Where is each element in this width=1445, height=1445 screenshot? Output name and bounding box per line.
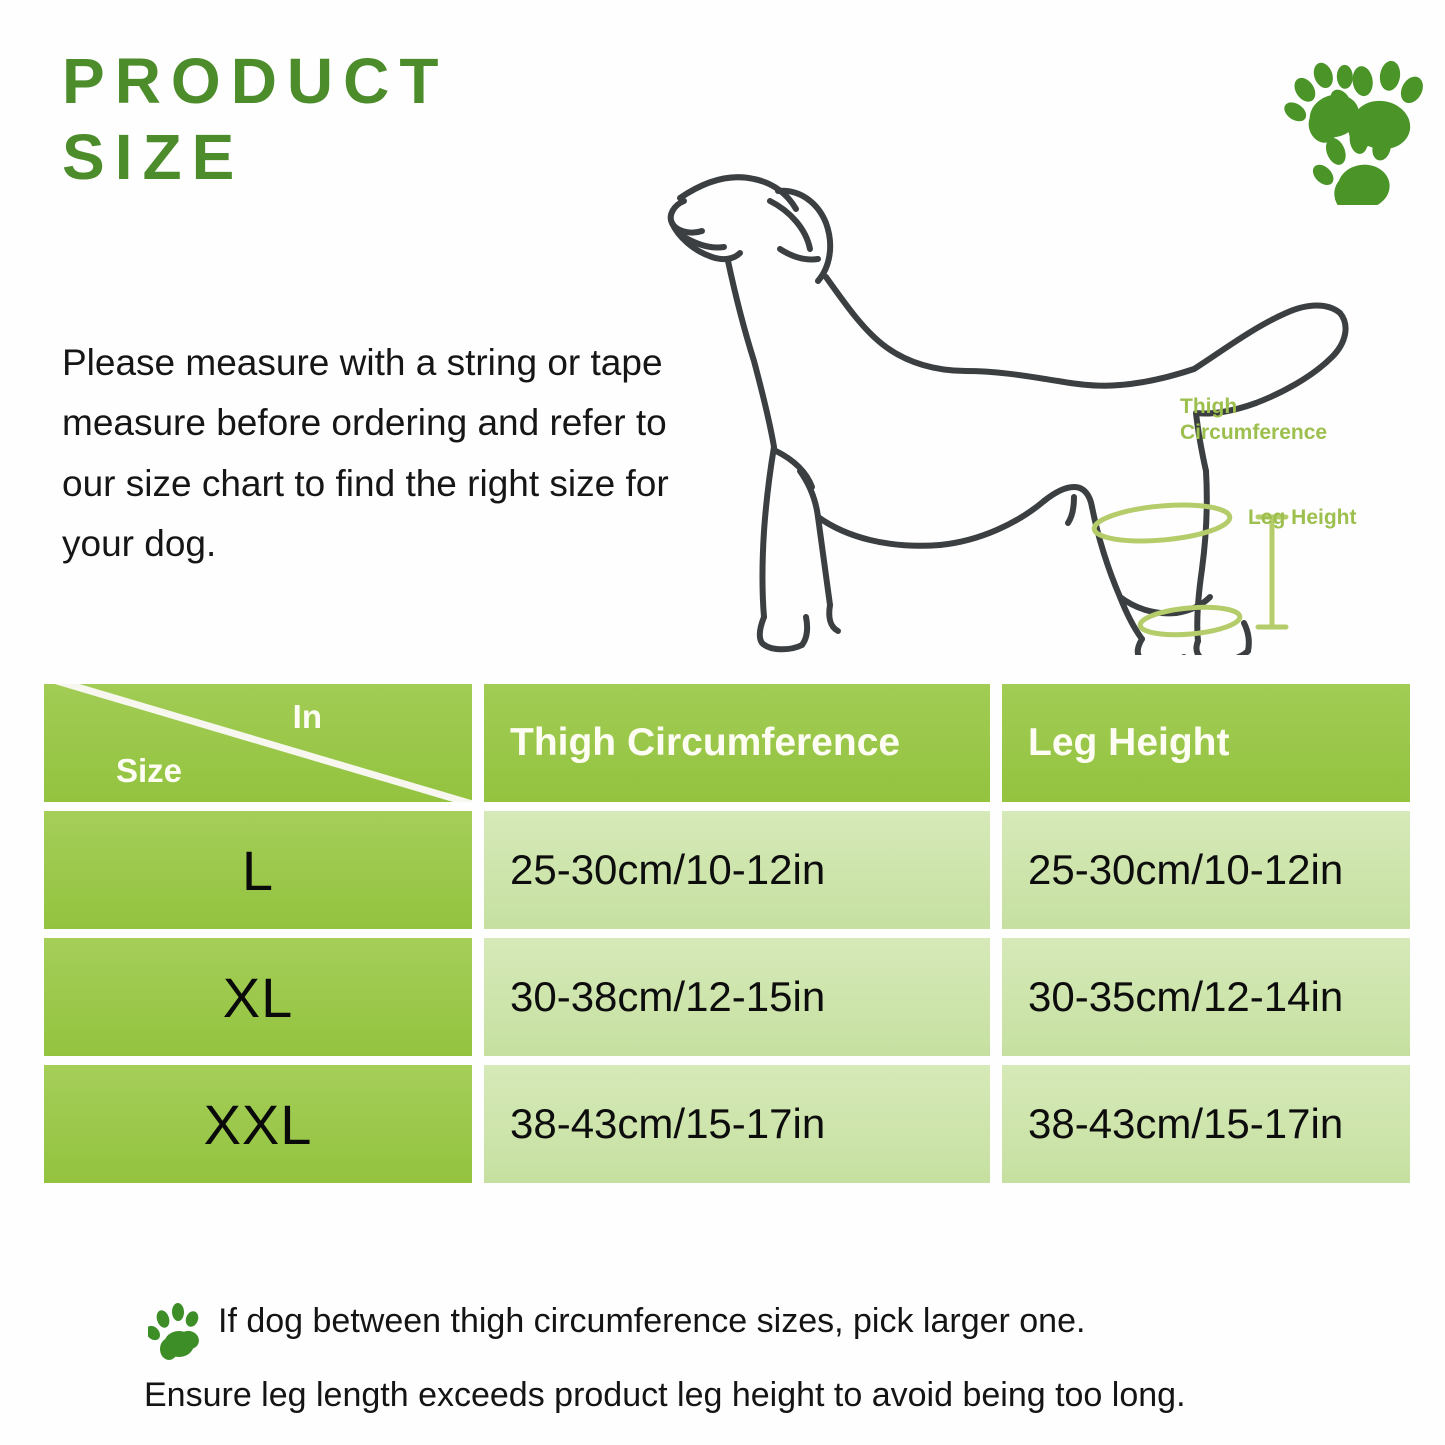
- table-row: XL 30-38cm/12-15in 30-35cm/12-14in: [44, 938, 1406, 1056]
- thigh-measuring-band-icon: [1093, 500, 1231, 546]
- leg-measuring-band-icon: [1139, 604, 1241, 639]
- table-corner-cell: In Size: [44, 684, 472, 802]
- table-row: L 25-30cm/10-12in 25-30cm/10-12in: [44, 811, 1406, 929]
- leg-height-value: 30-35cm/12-14in: [1002, 938, 1410, 1056]
- thigh-circumference-value: 25-30cm/10-12in: [484, 811, 990, 929]
- note-text-2: Ensure leg length exceeds product leg he…: [144, 1374, 1378, 1417]
- leg-height-value: 38-43cm/15-17in: [1002, 1065, 1410, 1183]
- table-header-row: In Size Thigh Circumference Leg Height: [44, 684, 1406, 802]
- size-label-cell: XL: [44, 938, 472, 1056]
- thigh-circumference-label: Thigh Circumference: [1180, 394, 1327, 445]
- page-title: PRODUCT SIZE: [62, 44, 622, 195]
- size-label-cell: XXL: [44, 1065, 472, 1183]
- leg-height-value: 25-30cm/10-12in: [1002, 811, 1410, 929]
- size-chart-table: In Size Thigh Circumference Leg Height L…: [44, 684, 1406, 1183]
- leg-height-ruler-icon: [1258, 517, 1286, 627]
- product-size-chart-page: PRODUCT SIZE: [0, 0, 1445, 1445]
- corner-size-label: Size: [116, 752, 182, 790]
- table-row: XXL 38-43cm/15-17in 38-43cm/15-17in: [44, 1065, 1406, 1183]
- corner-unit-label: In: [293, 698, 322, 736]
- note-row-1: If dog between thigh circumference sizes…: [148, 1300, 1378, 1362]
- size-label-cell: L: [44, 811, 472, 929]
- paw-print-icon: [148, 1302, 204, 1362]
- thigh-circumference-value: 38-43cm/15-17in: [484, 1065, 990, 1183]
- leg-height-label: Leg Height: [1248, 505, 1357, 531]
- note-text-1: If dog between thigh circumference sizes…: [218, 1300, 1085, 1343]
- column-header-leg-height: Leg Height: [1002, 684, 1410, 802]
- corner-diagonal-divider: [44, 684, 472, 802]
- footer-notes: If dog between thigh circumference sizes…: [148, 1300, 1378, 1417]
- column-header-thigh-circumference: Thigh Circumference: [484, 684, 990, 802]
- measurement-instructions: Please measure with a string or tape mea…: [62, 333, 682, 574]
- thigh-circumference-value: 30-38cm/12-15in: [484, 938, 990, 1056]
